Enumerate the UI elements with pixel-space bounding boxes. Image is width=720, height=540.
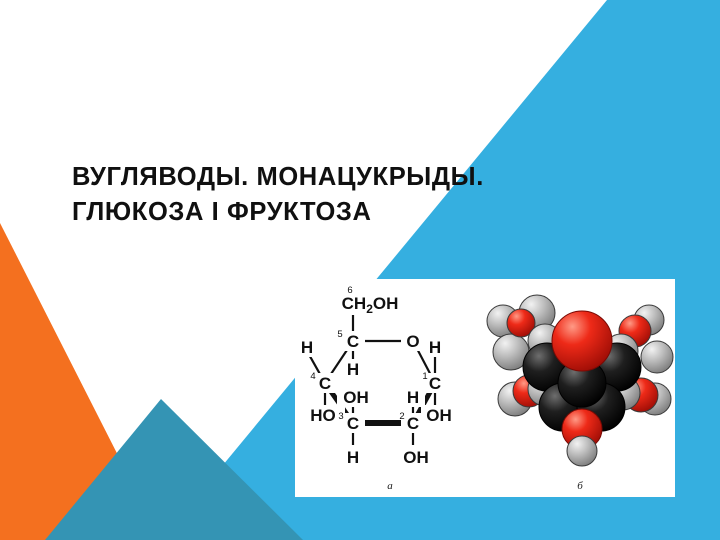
haworth-number-3: 3 — [338, 411, 343, 422]
haworth-atom-c3: C — [347, 414, 359, 433]
haworth-number-4: 4 — [310, 371, 315, 382]
haworth-number-5: 5 — [337, 329, 342, 340]
slide-title: ВУГЛЯВОДЫ. МОНАЦУКРЫДЫ. ГЛЮКОЗА І ФРУКТО… — [72, 160, 542, 230]
haworth-c1-hydroxyl: OH — [426, 406, 452, 425]
haworth-atom-ring-oxygen: O — [406, 332, 419, 351]
haworth-number-6: 6 — [347, 285, 352, 296]
haworth-c4-hydrogen: H — [301, 338, 313, 357]
haworth-figure: C O C C C C H H HO OH H H OH H OH — [295, 279, 485, 497]
haworth-c3-hydroxyl: OH — [343, 388, 369, 407]
haworth-number-2: 2 — [399, 411, 404, 422]
cpk-figure: б — [485, 279, 675, 497]
presentation-slide: ВУГЛЯВОДЫ. МОНАЦУКРЫДЫ. ГЛЮКОЗА І ФРУКТО… — [0, 0, 720, 540]
haworth-number-1: 1 — [422, 371, 427, 382]
haworth-atom-c5: C — [347, 332, 359, 351]
cpk-atom-hydrogen — [641, 341, 673, 373]
haworth-atom-c1: C — [429, 374, 441, 393]
haworth-atom-c4: C — [319, 374, 331, 393]
haworth-c2-hydrogen: H — [407, 388, 419, 407]
cpk-svg — [485, 279, 675, 479]
haworth-c4-hydroxyl: HO — [310, 406, 336, 425]
title-line-2: ГЛЮКОЗА І ФРУКТОЗА — [72, 195, 542, 230]
figure-caption-a: а — [295, 480, 485, 492]
haworth-c3-hydrogen: H — [347, 448, 359, 467]
haworth-atom-c2: C — [407, 414, 419, 433]
haworth-svg: C O C C C C H H HO OH H H OH H OH — [295, 279, 485, 479]
haworth-c1-hydrogen: H — [429, 338, 441, 357]
haworth-c2-hydroxyl: OH — [403, 448, 429, 467]
title-line-1: ВУГЛЯВОДЫ. МОНАЦУКРЫДЫ. — [72, 160, 542, 195]
figure-image-panel: C O C C C C H H HO OH H H OH H OH — [295, 279, 675, 497]
cpk-atom-hydrogen — [567, 436, 597, 466]
figure-caption-b: б — [485, 480, 675, 492]
cpk-atom-ring-oxygen — [552, 311, 612, 371]
haworth-c5-hydrogen: H — [347, 360, 359, 379]
